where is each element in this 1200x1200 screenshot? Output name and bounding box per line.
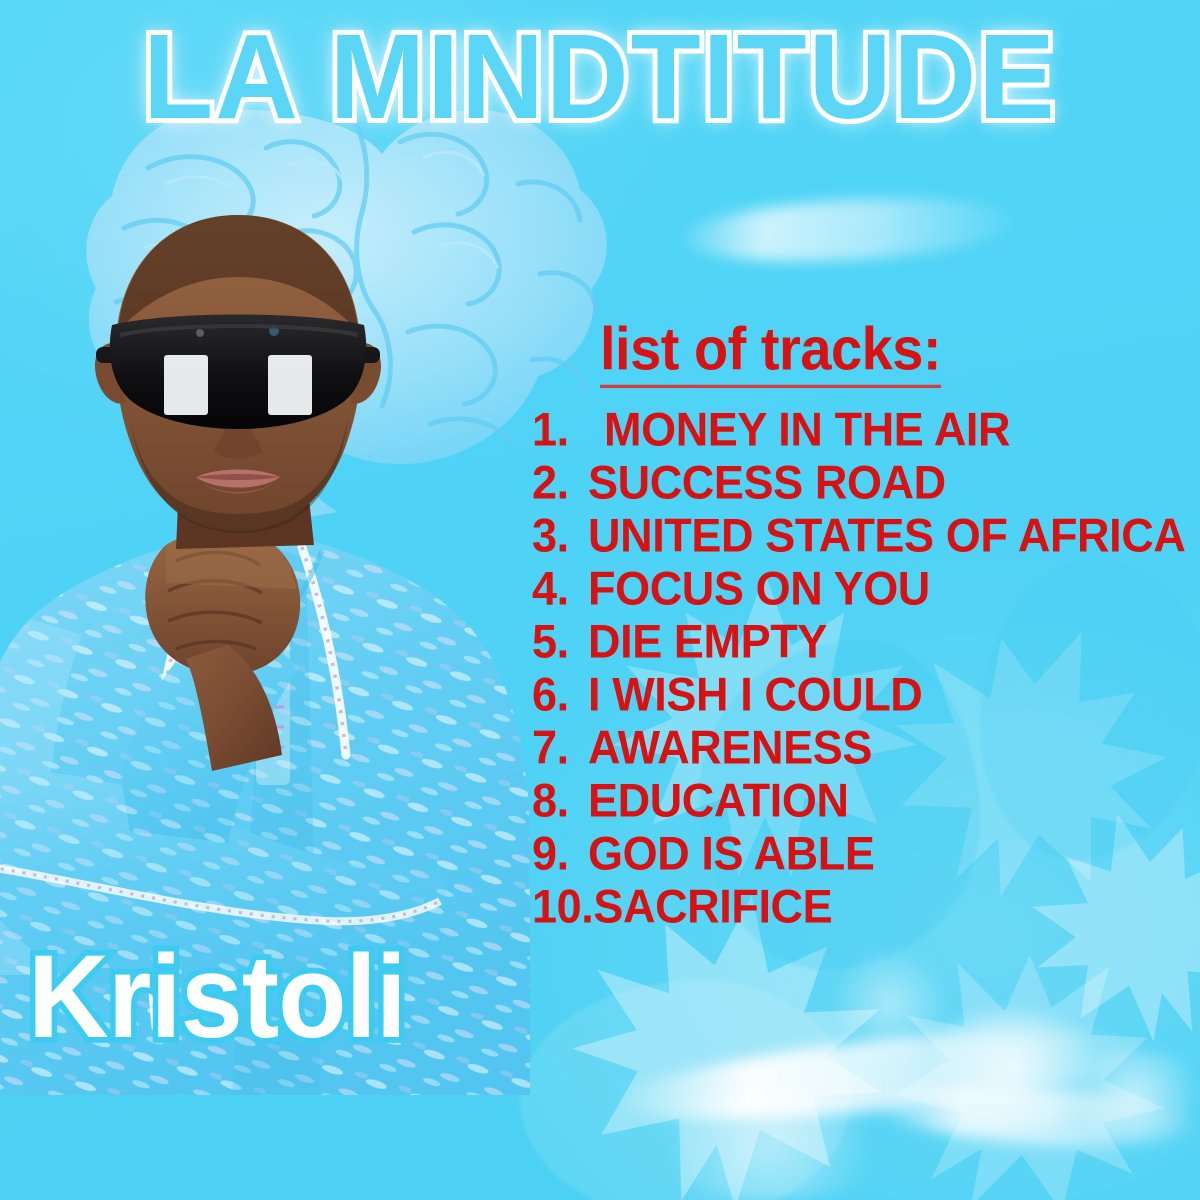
ghost-watermark-text [690,224,704,287]
track-item: 8. EDUCATION [532,772,1200,828]
track-title: MONEY IN THE AIR [604,401,1010,457]
track-list: 1. MONEY IN THE AIR 2. SUCCESS ROAD 3. U… [532,404,1200,934]
track-title: DIE EMPTY [588,613,827,669]
track-title: FOCUS ON YOU [588,560,930,616]
ghost-watermark-text [650,993,666,1068]
track-item: 7. AWARENESS [532,719,1200,775]
track-number: 7. [532,719,588,775]
track-title: EDUCATION [588,772,849,828]
track-list-panel: list of tracks: 1. MONEY IN THE AIR 2. S… [532,322,1200,934]
track-item: 1. MONEY IN THE AIR [532,401,1200,457]
track-title: AWARENESS [588,719,872,775]
track-item: 5. DIE EMPTY [532,613,1200,669]
track-item: 10. SACRIFICE [532,878,1200,934]
track-item: 6. I WISH I COULD [532,666,1200,722]
track-number: 5. [532,613,588,669]
track-number: 4. [532,560,588,616]
track-item: 9. GOD IS ABLE [532,825,1200,881]
album-title: LA MINDTITUDE [0,14,1200,139]
track-number: 6. [532,666,588,722]
track-title: SACRIFICE [593,878,832,934]
album-cover: LA MINDTITUDE list of tracks: 1. MONEY I… [0,0,1200,1200]
track-title: I WISH I COULD [588,666,922,722]
track-number: 8. [532,772,588,828]
track-number: 9. [532,825,588,881]
track-number: 10. [532,878,593,934]
track-title: GOD IS ABLE [588,825,874,881]
track-title: SUCCESS ROAD [588,454,946,510]
track-number: 3. [532,507,588,563]
track-title: UNITED STATES OF AFRICA [588,507,1185,563]
artist-name: Kristoli [28,940,406,1056]
track-number: 2. [532,454,588,510]
track-item: 3. UNITED STATES OF AFRICA [532,507,1200,563]
track-item: 4. FOCUS ON YOU [532,560,1200,616]
track-number: 1. [532,401,604,457]
track-item: 2. SUCCESS ROAD [532,454,1200,510]
track-list-heading: list of tracks: [600,317,941,388]
